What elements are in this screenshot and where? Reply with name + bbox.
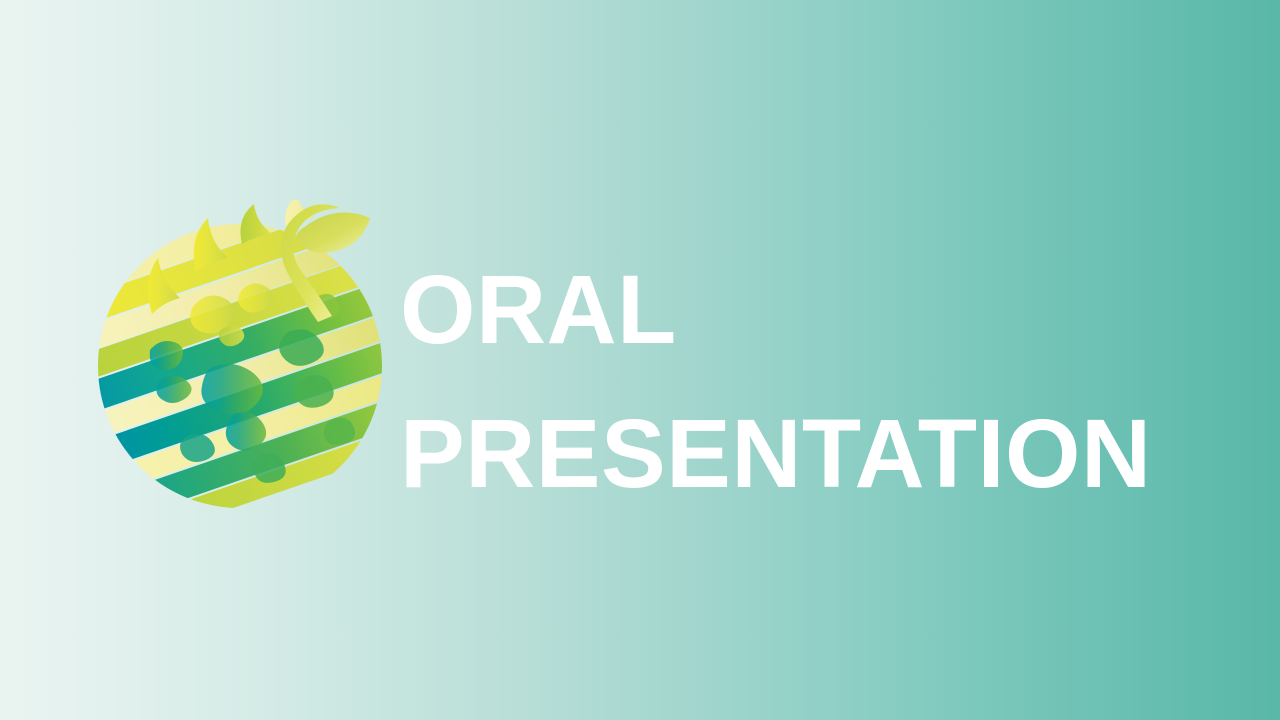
slide-canvas: ORAL PRESENTATION [0,0,1280,720]
globe-ribbon-leaf-logo [92,200,392,526]
title-line-2: PRESENTATION [400,382,1200,526]
title-line-1: ORAL [400,238,1200,382]
page-title: ORAL PRESENTATION [400,238,1200,526]
globe-ribbon-bands [92,200,392,526]
